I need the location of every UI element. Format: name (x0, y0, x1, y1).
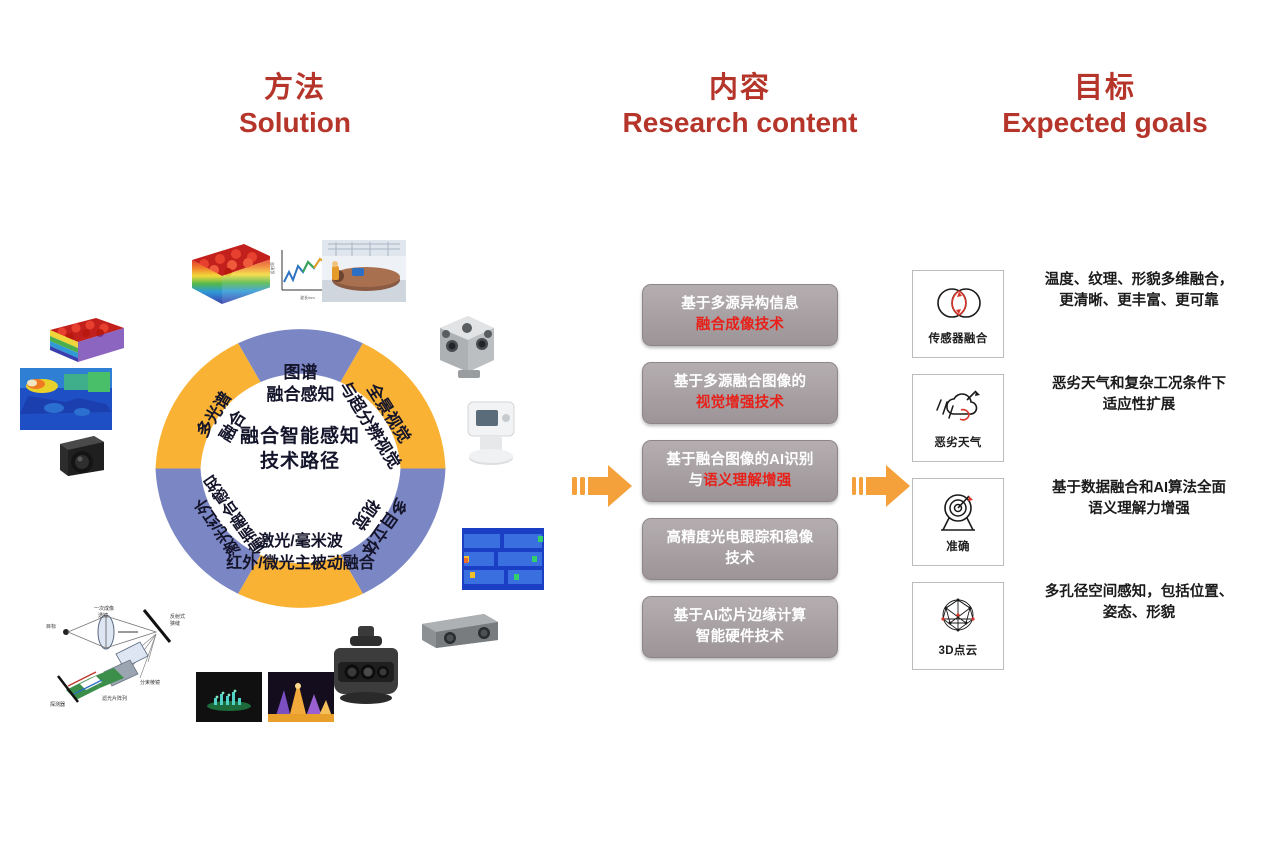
goal-text-3: 基于数据融合和AI算法全面 语义理解力增强 (1004, 478, 1252, 519)
goal-text-2-line2: 适应性扩展 (1103, 397, 1176, 413)
goal-text-4: 多孔径空间感知，包括位置、 姿态、形貌 (1004, 582, 1252, 623)
content-box-5-line1: 基于AI芯片边缘计算 (674, 608, 807, 624)
rain-cloud-weather-icon (931, 384, 985, 430)
goal-card-1-caption: 传感器融合 (929, 330, 988, 346)
content-box-3-line2: 与 (689, 473, 704, 489)
content-box-3-highlight: 语义理解增强 (703, 473, 791, 489)
column-header-content: 内容 Research content (595, 72, 885, 139)
field-pipeline-photo-image (322, 240, 406, 302)
header-content-zh: 内容 (595, 72, 885, 104)
content-box-5-line2: 智能硬件技术 (696, 629, 784, 645)
segment-bottom-label-2: 红外/微光主被动融合 (226, 553, 375, 572)
content-box-2-highlight: 视觉增强技术 (696, 395, 784, 411)
donut-center-line-2: 技术路径 (200, 449, 400, 474)
segment-bottom-label-1: 激光/毫米波 (258, 531, 343, 550)
content-box-2[interactable]: 基于多源融合图像的 视觉增强技术 (642, 362, 838, 424)
technology-roadmap-donut: 图谱 融合感知 全景视觉 与超分辨视觉 多目立体 视觉 激光/毫米波 红外/微光… (128, 296, 473, 641)
segment-top-label-2: 融合感知 (267, 384, 335, 404)
svg-text:反射率: 反射率 (270, 262, 275, 274)
goal-text-3-line1: 基于数据融合和AI算法全面 (1052, 480, 1226, 496)
content-box-3-line1: 基于融合图像的AI识别 (666, 452, 813, 468)
content-box-1-highlight: 融合成像技术 (696, 317, 784, 333)
content-box-5[interactable]: 基于AI芯片边缘计算 智能硬件技术 (642, 596, 838, 658)
segment-lower-right (341, 469, 446, 594)
header-goals-en: Expected goals (960, 107, 1250, 138)
header-content-en: Research content (595, 107, 885, 138)
svg-text:滤光片阵列: 滤光片阵列 (102, 695, 127, 702)
goal-card-1[interactable]: 传感器融合 (912, 270, 1004, 358)
svg-text:目标: 目标 (46, 623, 56, 630)
goal-text-4-line2: 姿态、形貌 (1103, 605, 1176, 621)
diagram-canvas: 方法 Solution 内容 Research content 目标 Expec… (0, 0, 1268, 866)
column-header-solution: 方法 Solution (160, 72, 430, 139)
arrow-solution-to-content (572, 462, 634, 510)
goal-row-2: 恶劣天气 恶劣天气和复杂工况条件下 适应性扩展 (912, 374, 1252, 462)
content-box-4-line1: 高精度光电跟踪和稳像 (667, 530, 814, 546)
header-solution-en: Solution (160, 107, 430, 138)
goal-text-4-line1: 多孔径空间感知，包括位置、 (1045, 584, 1234, 600)
goal-text-1-line2: 更清晰、更丰富、更可靠 (1059, 293, 1219, 309)
header-solution-zh: 方法 (160, 72, 430, 104)
header-goals-zh: 目标 (960, 72, 1250, 104)
venn-sensor-fusion-icon (931, 280, 985, 326)
svg-text:探测器: 探测器 (50, 701, 65, 708)
goal-card-3[interactable]: 准确 (912, 478, 1004, 566)
content-box-4-line2: 技术 (725, 551, 754, 567)
content-box-3[interactable]: 基于融合图像的AI识别 与语义理解增强 (642, 440, 838, 502)
goal-row-4: 3D点云 多孔径空间感知，包括位置、 姿态、形貌 (912, 582, 1252, 670)
industrial-camera-image (54, 430, 108, 478)
content-box-1-line1: 基于多源异构信息 (681, 296, 799, 312)
content-box-2-line1: 基于多源融合图像的 (674, 374, 806, 390)
goal-text-2: 恶劣天气和复杂工况条件下 适应性扩展 (1004, 374, 1252, 415)
goal-card-2-caption: 恶劣天气 (934, 434, 981, 450)
content-box-4[interactable]: 高精度光电跟踪和稳像 技术 (642, 518, 838, 580)
goal-card-2[interactable]: 恶劣天气 (912, 374, 1004, 462)
lidar-point-cloud-dark-image (196, 672, 262, 722)
research-content-list: 基于多源异构信息 融合成像技术 基于多源融合图像的 视觉增强技术 基于融合图像的… (642, 284, 838, 674)
column-header-goals: 目标 Expected goals (960, 72, 1250, 139)
spectral-stack-image (46, 314, 126, 366)
goal-row-3: 准确 基于数据融合和AI算法全面 语义理解力增强 (912, 478, 1252, 566)
arrow-content-to-goals (852, 462, 914, 510)
goal-text-1: 温度、纹理、形貌多维融合， 更清晰、更丰富、更可靠 (1004, 270, 1252, 311)
goal-text-3-line2: 语义理解力增强 (1088, 501, 1190, 517)
donut-center-line-1: 融合智能感知 (200, 424, 400, 449)
content-box-1[interactable]: 基于多源异构信息 融合成像技术 (642, 284, 838, 346)
goal-row-1: 传感器融合 温度、纹理、形貌多维融合， 更清晰、更丰富、更可靠 (912, 270, 1252, 358)
svg-text:透镜: 透镜 (98, 612, 108, 619)
svg-text:分束棱镜: 分束棱镜 (140, 679, 160, 686)
point-cloud-sphere-icon (931, 592, 985, 638)
goal-text-2-line1: 恶劣天气和复杂工况条件下 (1052, 376, 1226, 392)
goal-card-4-caption: 3D点云 (939, 642, 978, 658)
svg-text:一次成像: 一次成像 (94, 605, 114, 612)
depth-map-blue-image (462, 528, 544, 590)
segment-top-label-1: 图谱 (284, 362, 318, 382)
thermal-image-image (20, 368, 112, 430)
thermal-scene-purple-image (268, 672, 334, 722)
goal-text-1-line1: 温度、纹理、形貌多维融合， (1045, 272, 1234, 288)
donut-center-label: 融合智能感知 技术路径 (200, 424, 400, 474)
target-accuracy-icon (931, 488, 985, 534)
expected-goals-list: 传感器融合 温度、纹理、形貌多维融合， 更清晰、更丰富、更可靠 (912, 270, 1252, 686)
goal-card-3-caption: 准确 (946, 538, 970, 554)
goal-card-4[interactable]: 3D点云 (912, 582, 1004, 670)
